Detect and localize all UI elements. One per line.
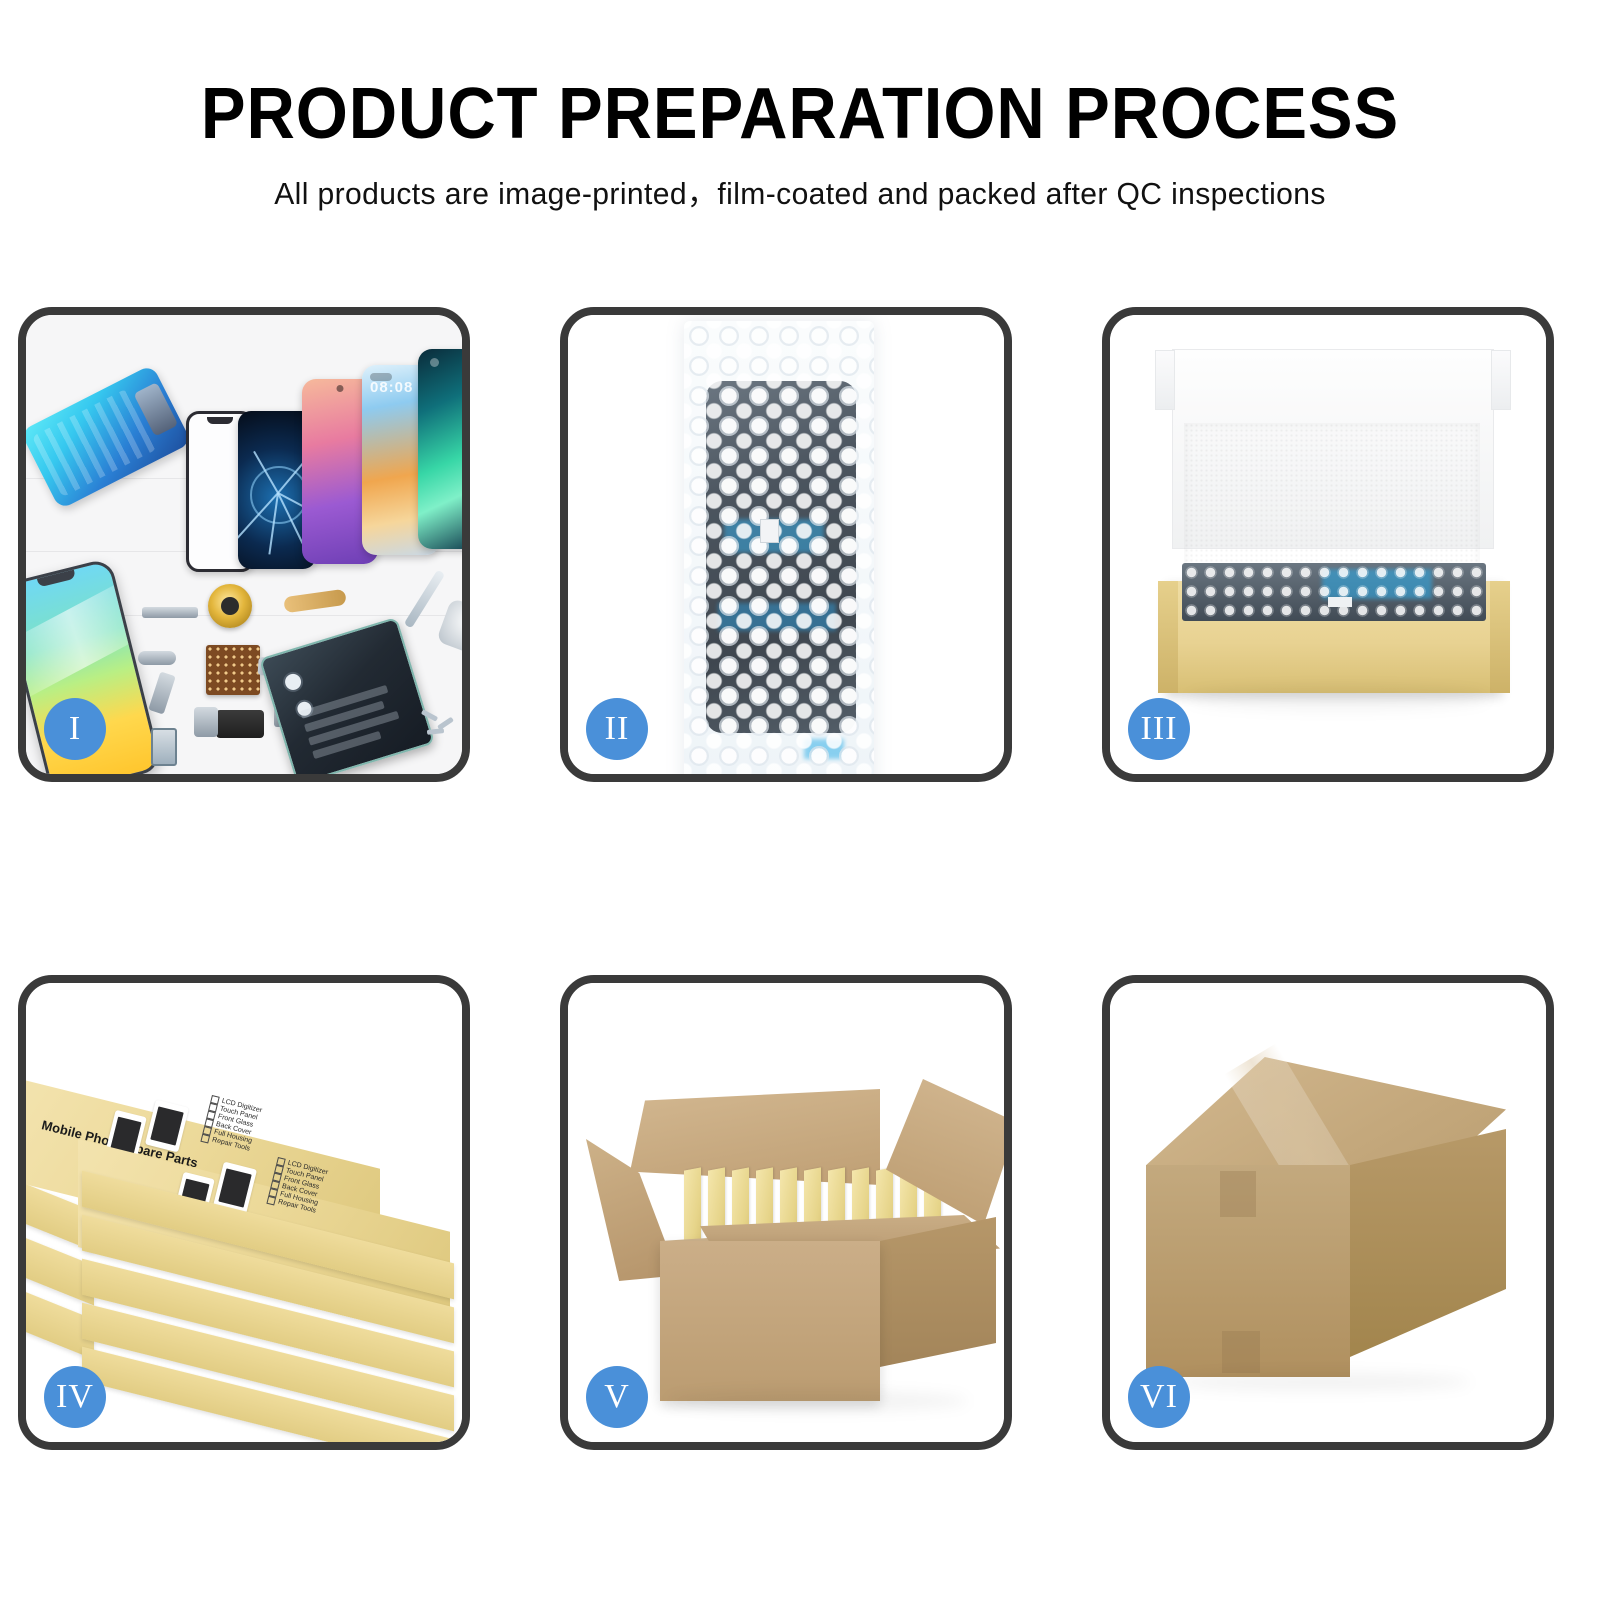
step-numeral-6: VI: [1140, 1380, 1178, 1414]
tape-tab: [1222, 1331, 1260, 1373]
mailer-box-tray: [1166, 581, 1502, 693]
step-badge-2: II: [586, 698, 648, 760]
package-label-sticker: [760, 519, 779, 543]
speaker-module-part: [216, 710, 264, 738]
step-panel-4[interactable]: Mobile Phone Spare Parts LCD Digitizer T…: [18, 975, 470, 1450]
phone-status-time: 08:08: [370, 379, 413, 396]
step-panel-2[interactable]: II: [560, 307, 1012, 782]
carton-front-face: [660, 1241, 880, 1401]
step-badge-6: VI: [1128, 1366, 1190, 1428]
ic-chip-part: [206, 645, 260, 695]
item-label-sticker: [1328, 597, 1352, 607]
antenna-strip-part: [142, 607, 198, 618]
step-numeral-3: III: [1141, 712, 1178, 746]
sim-tray-part: [151, 728, 177, 766]
step-numeral-5: V: [604, 1380, 630, 1414]
step-panel-6[interactable]: VI: [1102, 975, 1554, 1450]
wrapped-item-in-box: [1182, 563, 1486, 621]
step-badge-1: I: [44, 698, 106, 760]
step-numeral-2: II: [605, 712, 630, 746]
button-part: [194, 707, 218, 737]
bubble-wrapped-package: [684, 321, 874, 774]
process-steps-grid: 08:08: [0, 0, 1600, 1600]
step-numeral-1: I: [69, 712, 81, 746]
step-badge-4: IV: [44, 1366, 106, 1428]
step-badge-5: V: [586, 1366, 648, 1428]
step-numeral-4: IV: [56, 1380, 94, 1414]
step-badge-3: III: [1128, 698, 1190, 760]
foam-insert: [1184, 423, 1480, 581]
camera-flex-part: [138, 651, 176, 665]
step-panel-5[interactable]: V: [560, 975, 1012, 1450]
wireless-charging-coil: [208, 584, 252, 628]
carton-side-face: [880, 1217, 996, 1367]
phone-green: [418, 349, 462, 549]
tape-tab: [1220, 1171, 1256, 1217]
step-panel-3[interactable]: III: [1102, 307, 1554, 782]
screws-part: [421, 711, 462, 737]
repair-tool: [412, 567, 462, 663]
step-panel-1[interactable]: 08:08: [18, 307, 470, 782]
